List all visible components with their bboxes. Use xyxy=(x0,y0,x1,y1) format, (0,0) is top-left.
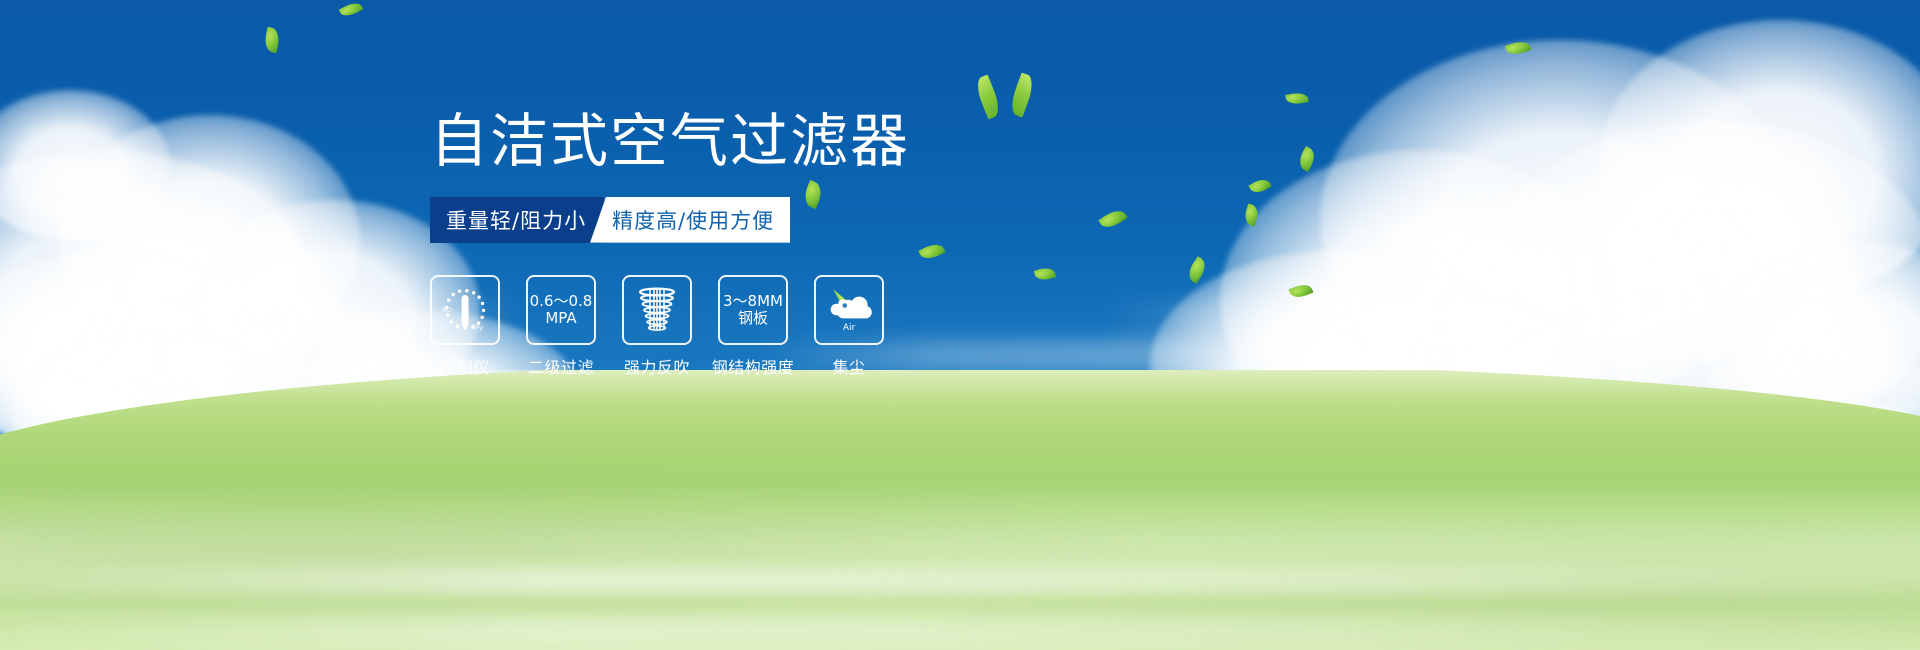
feature-text-line2: MPA xyxy=(545,310,576,327)
svg-text:OFF: OFF xyxy=(471,323,485,333)
title-sprout-leaves-icon xyxy=(974,74,1044,120)
feature-caption: 二级过滤 xyxy=(528,354,594,378)
coil-blowback-icon xyxy=(633,285,681,335)
feature-caption: 强力反吹 xyxy=(624,354,690,378)
feature-list: NO OFF 控制仪 0.6〜0.8 MPA 二级过滤 xyxy=(430,275,1050,378)
banner-title: 自洁式空气过滤器 xyxy=(430,110,1050,173)
haze-streak xyxy=(1100,300,1920,346)
banner-tag-secondary-label: 精度高/使用方便 xyxy=(612,205,774,235)
banner-title-text: 自洁式空气过滤器 xyxy=(430,107,910,175)
banner-tag-primary-label: 重量轻/阻力小 xyxy=(446,205,586,235)
feature-caption: 控制仪 xyxy=(440,354,490,378)
banner-tag-secondary: 精度高/使用方便 xyxy=(590,197,790,243)
banner-tag-list: 重量轻/阻力小 精度高/使用方便 xyxy=(430,197,820,243)
feature-box: NO OFF xyxy=(430,275,500,345)
feature-text-line1: 3〜8MM xyxy=(723,293,783,310)
sprout-leaf-left-icon xyxy=(973,75,1004,120)
feature-box: Air xyxy=(814,275,884,345)
feature-text-line2: 钢板 xyxy=(738,310,768,327)
control-dial-icon: NO OFF xyxy=(439,284,491,336)
svg-text:NO: NO xyxy=(442,306,452,314)
feature-box: 3〜8MM 钢板 xyxy=(718,275,788,345)
feature-item-blowback: 强力反吹 xyxy=(622,275,692,378)
air-cloud-icon: Air xyxy=(821,285,877,335)
feature-item-control-dial: NO OFF 控制仪 xyxy=(430,275,500,378)
feature-item-steel-plate: 3〜8MM 钢板 钢结构强度 xyxy=(718,275,788,378)
feature-item-dust-collection: Air 集尘 xyxy=(814,275,884,378)
banner-tag-primary: 重量轻/阻力小 xyxy=(430,197,604,243)
hero-banner: 自洁式空气过滤器 重量轻/阻力小 精度高/使用方便 xyxy=(0,0,1920,650)
air-label: Air xyxy=(843,323,856,333)
feature-box xyxy=(622,275,692,345)
feature-item-pressure: 0.6〜0.8 MPA 二级过滤 xyxy=(526,275,596,378)
banner-content: 自洁式空气过滤器 重量轻/阻力小 精度高/使用方便 xyxy=(430,110,1050,378)
grass-band xyxy=(0,614,1920,648)
grass-field xyxy=(0,370,1920,650)
grass-hill xyxy=(0,370,1920,650)
feature-text-line1: 0.6〜0.8 xyxy=(530,293,593,310)
feature-caption: 集尘 xyxy=(832,354,865,378)
grass-band xyxy=(0,568,1920,594)
sprout-leaf-right-icon xyxy=(1007,73,1036,118)
feature-caption: 钢结构强度 xyxy=(712,354,795,378)
feature-box: 0.6〜0.8 MPA xyxy=(526,275,596,345)
